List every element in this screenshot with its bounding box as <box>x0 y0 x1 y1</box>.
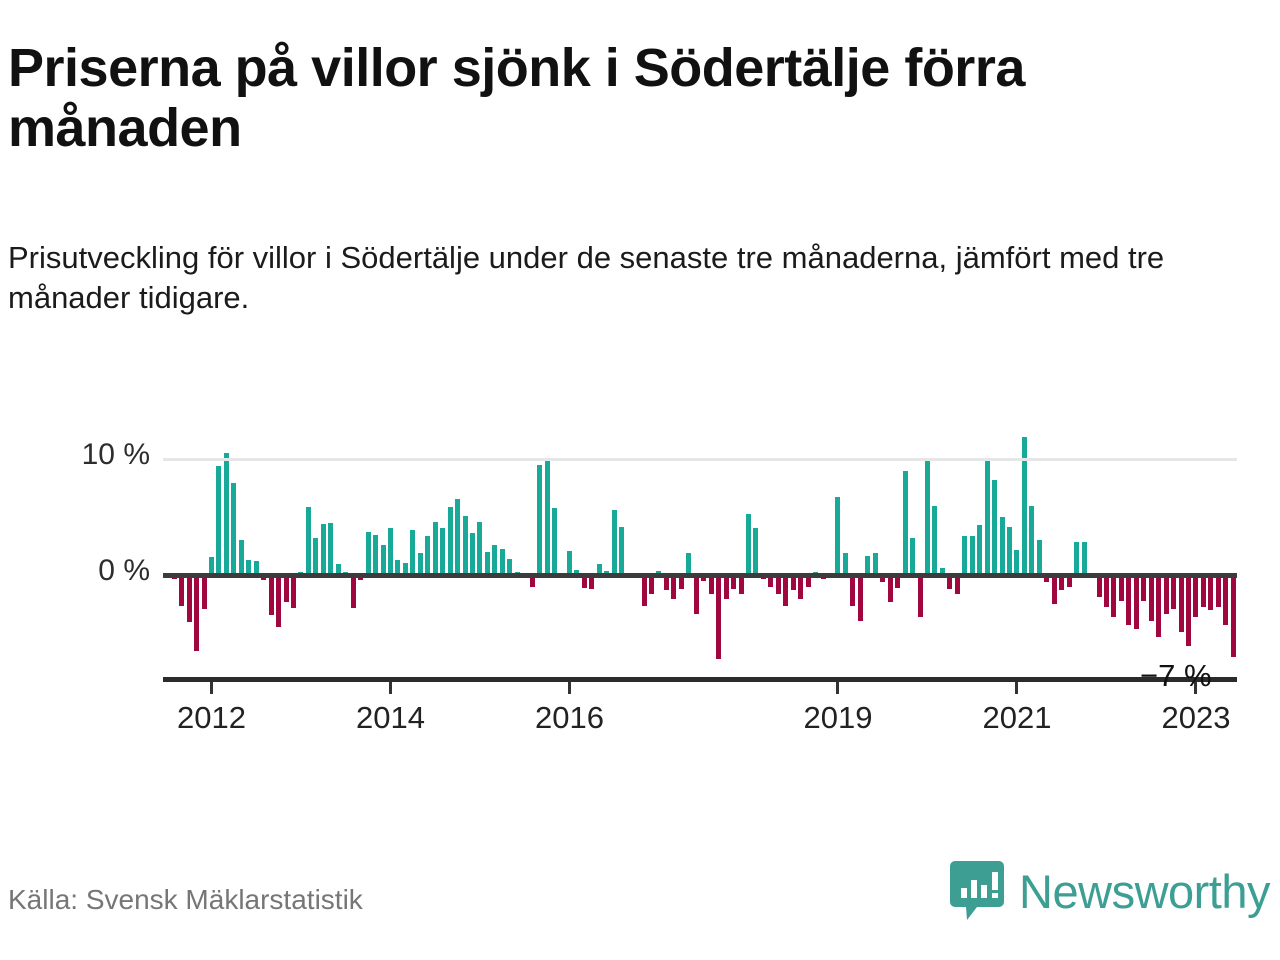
bar <box>269 575 274 615</box>
bar <box>463 516 468 575</box>
bar <box>485 552 490 575</box>
bar <box>440 528 445 576</box>
y-tick-label: 0 % <box>10 554 150 588</box>
bar <box>1216 575 1221 606</box>
x-tick-mark <box>568 680 571 694</box>
y-axis-labels: 10 %0 % <box>0 430 150 680</box>
bar <box>366 532 371 575</box>
bar <box>746 514 751 576</box>
last-value-annotation: −7 % <box>1140 658 1212 694</box>
bar <box>1000 517 1005 575</box>
bar <box>418 553 423 575</box>
bar <box>1223 575 1228 625</box>
x-tick-label: 2012 <box>177 700 246 736</box>
bar <box>1014 550 1019 576</box>
bar <box>1149 575 1154 620</box>
bar <box>231 483 236 575</box>
brand-logo: Newsworthy <box>949 860 1270 922</box>
brand-name: Newsworthy <box>1019 868 1270 915</box>
bar <box>918 575 923 617</box>
bar <box>1126 575 1131 625</box>
gridline-10 <box>163 458 1237 461</box>
bar <box>843 553 848 575</box>
bar <box>686 553 691 575</box>
bar <box>753 528 758 576</box>
bar <box>284 575 289 602</box>
bar <box>306 507 311 576</box>
bar <box>1111 575 1116 617</box>
page-title: Priserna på villor sjönk i Södertälje fö… <box>8 38 1238 159</box>
bar <box>216 466 221 575</box>
bar <box>671 575 676 598</box>
bar <box>1156 575 1161 637</box>
bar <box>1037 540 1042 575</box>
bar <box>537 465 542 575</box>
bar <box>642 575 647 605</box>
bar <box>492 545 497 575</box>
bar <box>194 575 199 651</box>
bar <box>448 507 453 576</box>
x-tick-label: 2023 <box>1161 700 1230 736</box>
bar <box>545 461 550 575</box>
bar <box>1082 542 1087 576</box>
bar <box>313 538 318 575</box>
bar <box>850 575 855 605</box>
bar <box>1179 575 1184 632</box>
bar <box>1231 575 1236 656</box>
page-subtitle: Prisutveckling för villor i Södertälje u… <box>8 238 1248 317</box>
plot-area <box>163 430 1237 680</box>
bar-series <box>163 430 1237 680</box>
bar <box>835 497 840 575</box>
bar <box>1119 575 1124 601</box>
bar <box>724 575 729 598</box>
x-tick-mark <box>389 680 392 694</box>
bar <box>1164 575 1169 613</box>
bar <box>1029 506 1034 576</box>
bar <box>612 510 617 575</box>
bar <box>977 525 982 575</box>
bottom-axis-line <box>163 677 1237 682</box>
bar <box>903 471 908 576</box>
bar <box>1201 575 1206 606</box>
x-tick-label: 2014 <box>356 700 425 736</box>
bar <box>1097 575 1102 597</box>
bar <box>425 536 430 576</box>
bar <box>1208 575 1213 610</box>
bar <box>985 459 990 575</box>
bar <box>910 538 915 575</box>
bar <box>381 545 386 575</box>
bar <box>552 508 557 575</box>
bar <box>888 575 893 602</box>
bar <box>410 530 415 575</box>
bar <box>1074 542 1079 576</box>
bar <box>992 480 997 575</box>
bar <box>962 536 967 576</box>
bar <box>500 549 505 576</box>
zero-axis-line <box>163 573 1237 578</box>
bar <box>1171 575 1176 609</box>
bar <box>1104 575 1109 606</box>
bar <box>1186 575 1191 646</box>
bar-chart: 10 %0 % 201220142016201920212023 −7 % <box>0 400 1280 760</box>
bar <box>202 575 207 609</box>
bar <box>373 535 378 576</box>
bar <box>1134 575 1139 628</box>
bar <box>321 524 326 575</box>
bar <box>433 522 438 575</box>
bar <box>716 575 721 659</box>
bar <box>873 553 878 575</box>
chart-page: Priserna på villor sjönk i Södertälje fö… <box>0 0 1280 960</box>
bar <box>1007 527 1012 576</box>
bar <box>925 459 930 575</box>
y-tick-label: 10 % <box>10 438 150 472</box>
bar <box>328 523 333 575</box>
x-tick-label: 2016 <box>535 700 604 736</box>
bar <box>783 575 788 605</box>
x-tick-label: 2021 <box>982 700 1051 736</box>
bar <box>567 551 572 575</box>
bar <box>477 522 482 575</box>
bar <box>179 575 184 605</box>
x-tick-mark <box>1015 680 1018 694</box>
bar <box>388 528 393 576</box>
newsworthy-speech-bubble-bars-icon <box>949 860 1005 922</box>
bar <box>455 499 460 576</box>
bar <box>1141 575 1146 601</box>
bar <box>224 453 229 575</box>
bar <box>1193 575 1198 617</box>
x-tick-label: 2019 <box>803 700 872 736</box>
x-tick-mark <box>836 680 839 694</box>
source-note: Källa: Svensk Mäklarstatistik <box>8 884 363 916</box>
bar <box>619 527 624 576</box>
bar <box>1052 575 1057 604</box>
bar <box>932 506 937 576</box>
bar <box>187 575 192 622</box>
bar <box>291 575 296 608</box>
bar <box>798 575 803 598</box>
bar <box>351 575 356 608</box>
x-tick-mark <box>210 680 213 694</box>
x-axis: 201220142016201920212023 <box>163 680 1237 760</box>
bar <box>970 536 975 576</box>
bar <box>858 575 863 620</box>
bar <box>276 575 281 626</box>
bar <box>239 540 244 575</box>
bar <box>470 533 475 575</box>
bar <box>694 575 699 613</box>
